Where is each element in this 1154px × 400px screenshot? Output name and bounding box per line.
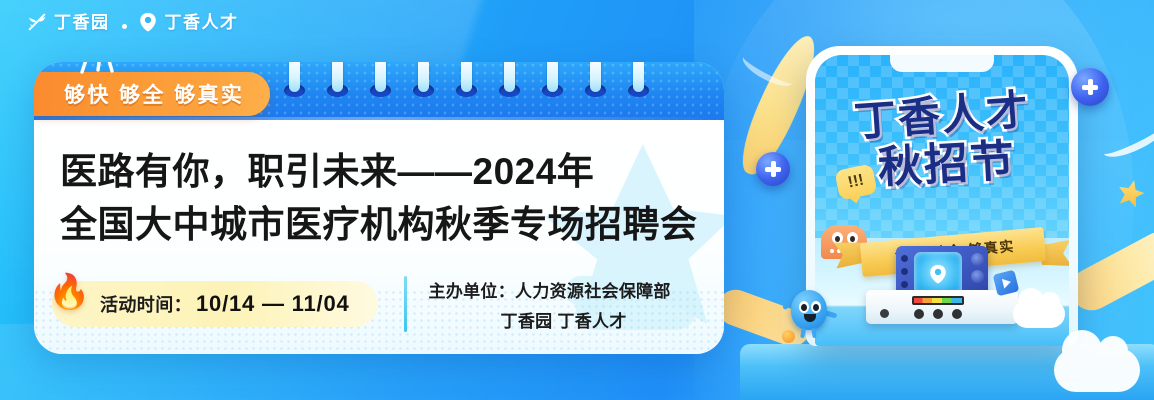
phone-notch (890, 55, 994, 72)
mascot-eye-right (811, 301, 821, 313)
organizer-line-1: 主办单位：人力资源社会保障部 (429, 277, 671, 302)
binding-ring (332, 62, 343, 104)
binding-ring (375, 62, 386, 104)
promo-card: 够快 够全 够真实 医路有你，职引未来——2024年 全国大中城市医疗机构秋季专… (34, 62, 724, 354)
phone-title-line-1: 丁香人才 (853, 89, 1032, 143)
blue-blob-mascot (786, 286, 832, 338)
event-info-row: 🔥 活动时间： 10/14 — 11/04 主办单位：人力资源社会保障部 丁香园… (52, 276, 671, 332)
phone-title-line-2: 秋招节 (877, 139, 1017, 190)
tv-speakers (971, 253, 984, 283)
tagline-badge: 够快 够全 够真实 (34, 72, 270, 116)
mascot-eye-left (799, 301, 809, 313)
location-pin-icon (927, 263, 949, 285)
binding-ring (504, 62, 515, 104)
phone-screen: 丁香人才 秋招节 !!! 够快 够全 够真实 (815, 55, 1069, 346)
brand-dingxiangrencai-label: 丁香人才 (165, 14, 239, 31)
cloud-decoration-right (1054, 348, 1140, 392)
binding-ring (590, 62, 601, 104)
flame-icon: 🔥 (48, 275, 90, 309)
exclaim-text: !!! (846, 172, 865, 193)
brand-logo-bar[interactable]: 丁香园 丁香人才 (26, 8, 239, 36)
exclaim-bubble: !!! (834, 163, 877, 200)
spiral-binding (289, 62, 644, 104)
page-title: 医路有你，职引未来——2024年 全国大中城市医疗机构秋季专场招聘会 (60, 146, 698, 251)
medical-cross-sphere-icon (756, 152, 790, 186)
mascot-leg-left (800, 328, 806, 339)
console-buttons (914, 309, 962, 319)
brand-dingxiangrencai[interactable]: 丁香人才 (137, 11, 239, 33)
sparkle-icon (74, 62, 134, 76)
phone-illustration: 丁香人才 秋招节 !!! 够快 够全 够真实 (806, 46, 1078, 346)
console-level-meter (912, 296, 964, 305)
headline-line-1: 医路有你，职引未来——2024年 (60, 146, 698, 199)
location-pin-icon (137, 11, 159, 33)
console-indicator (880, 309, 889, 318)
mascot-body (791, 290, 827, 330)
event-time-value: 10/14 — 11/04 (196, 291, 350, 317)
binding-ring (461, 62, 472, 104)
audio-console-icon (866, 290, 1018, 324)
organizer-line-2: 丁香园 丁香人才 (429, 307, 671, 332)
medical-cross-sphere-icon (1071, 68, 1109, 106)
brand-separator-dot (122, 24, 127, 29)
binding-ring (547, 62, 558, 104)
mascot-leg-right (811, 328, 817, 339)
swoosh-decoration-right (1098, 112, 1154, 164)
vertical-divider (404, 276, 407, 332)
binding-ring (289, 62, 300, 104)
brand-dingxiangyuan[interactable]: 丁香园 (26, 11, 110, 33)
brand-dingxiangyuan-label: 丁香园 (54, 14, 110, 31)
promo-banner: 丁香园 丁香人才 (0, 0, 1154, 400)
binding-ring (418, 62, 429, 104)
event-time-pill: 🔥 活动时间： 10/14 — 11/04 (52, 281, 378, 327)
orange-ball-decoration (782, 330, 795, 343)
event-time-label: 活动时间： (100, 291, 192, 317)
tagline-badge-text: 够快 够全 够真实 (64, 79, 244, 109)
headline-line-2: 全国大中城市医疗机构秋季专场招聘会 (60, 199, 698, 252)
organizer-block: 主办单位：人力资源社会保障部 丁香园 丁香人才 (429, 277, 671, 332)
cloud-icon (1013, 300, 1065, 328)
leaf-icon (26, 11, 48, 33)
binding-ring (633, 62, 644, 104)
star-decoration-right (1115, 177, 1147, 209)
tv-knobs (901, 255, 908, 288)
